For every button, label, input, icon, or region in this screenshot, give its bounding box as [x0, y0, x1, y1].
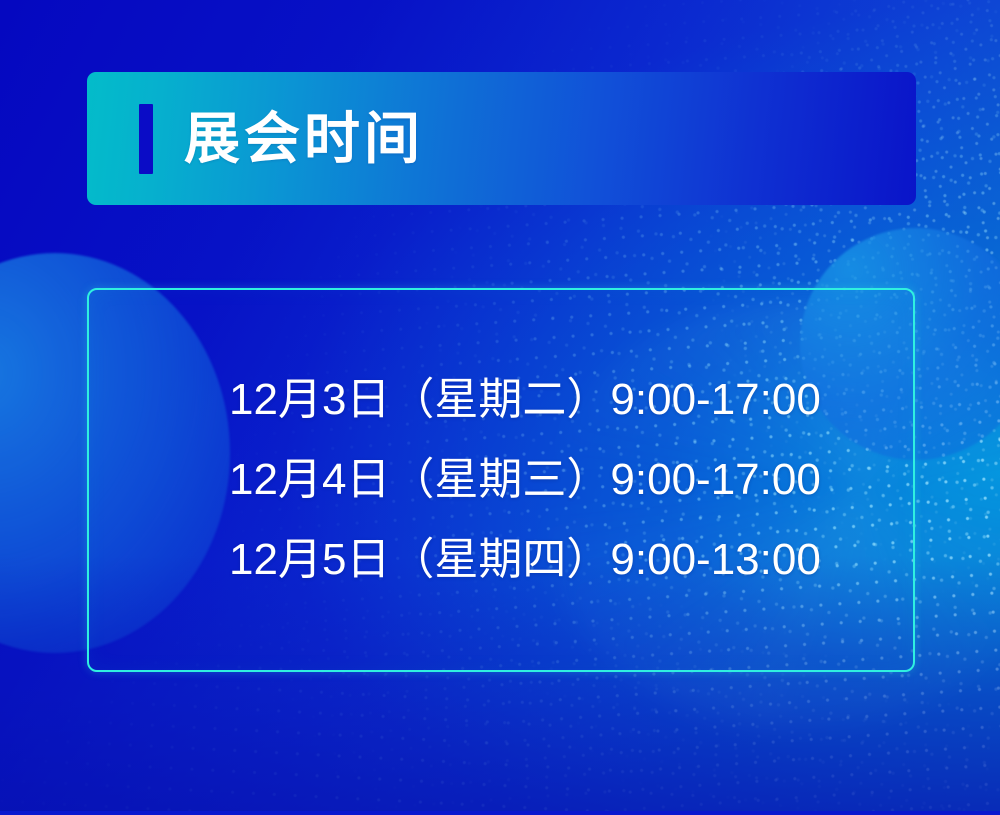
poster-canvas: 展会时间 12月3日（星期二）9:00-17:00 12月4日（星期三）9:00… [0, 0, 1000, 815]
list-item: 12月3日（星期二）9:00-17:00 [229, 360, 913, 440]
schedule-list: 12月3日（星期二）9:00-17:00 12月4日（星期三）9:00-17:0… [89, 360, 913, 600]
section-header-bar: 展会时间 [87, 72, 916, 205]
header-accent-bar [139, 104, 153, 174]
page-title: 展会时间 [184, 111, 424, 167]
schedule-panel: 12月3日（星期二）9:00-17:00 12月4日（星期三）9:00-17:0… [87, 288, 915, 672]
list-item: 12月4日（星期三）9:00-17:00 [229, 440, 913, 520]
bottom-edge-line [0, 811, 1000, 815]
list-item: 12月5日（星期四）9:00-13:00 [229, 520, 913, 600]
